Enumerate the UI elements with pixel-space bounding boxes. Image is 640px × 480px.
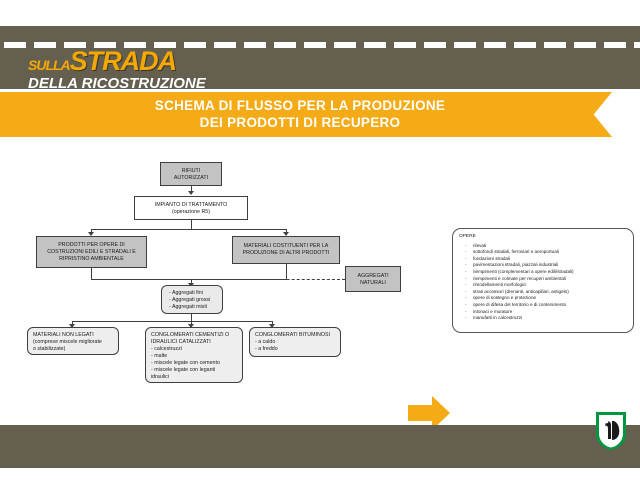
node-conglomerati-bituminosi: CONGLOMERATI BITUMINOSI - a caldo - a fr… (249, 327, 341, 357)
opere-list: rilevati sottofondi stradali, ferroviari… (459, 243, 627, 322)
opere-item: intonaci e murature (473, 309, 627, 316)
slide-title-line2: DEI PRODOTTI DI RECUPERO (0, 114, 600, 131)
opere-item: opere di difesa del territorio e di cont… (473, 302, 627, 309)
connector-materiali-down (286, 264, 287, 279)
logo-sulla: SULLA (28, 57, 70, 73)
non-legati-line1: (comprese miscele migliorate (33, 339, 113, 346)
node-aggregati-naturali: AGGREGATI NATURALI (345, 266, 401, 292)
node-conglomerati-cementizi: CONGLOMERATI CEMENTIZI O IDRAULICI CATAL… (145, 327, 243, 383)
node-rifiuti-line2: AUTORIZZATI (165, 175, 217, 182)
node-materiali-costituenti: MATERIALI COSTITUENTI PER LA PRODUZIONE … (232, 236, 340, 264)
node-prodotti-line2: COSTRUZIONI EDILI E STRADALI E (41, 249, 142, 256)
connector-dashed-naturali (191, 279, 345, 280)
connector-prodotti-down (91, 268, 92, 279)
slide-title-line1: SCHEMA DI FLUSSO PER LA PRODUZIONE (0, 97, 600, 114)
node-prodotti-line3: RIPRISTINO AMBIENTALE (41, 256, 142, 263)
cementizi-item-2: - miscele legate con cemento (151, 360, 237, 367)
road-header-band: SULLASTRADA DELLA RICOSTRUZIONE (0, 26, 640, 89)
cementizi-item-4: idraulici (151, 374, 237, 381)
brand-logo: SULLASTRADA DELLA RICOSTRUZIONE (28, 48, 206, 91)
non-legati-title: MATERIALI NON LEGATI (33, 332, 113, 339)
opere-item: fondazioni stradali (473, 256, 627, 263)
cementizi-title-l2: IDRAULICI CATALIZZATI (151, 339, 237, 346)
node-prodotti-opere: PRODOTTI PER OPERE DI COSTRUZIONI EDILI … (36, 236, 147, 268)
node-impianto-line1: IMPIANTO DI TRATTAMENTO (139, 202, 243, 209)
bituminosi-item-0: - a caldo (255, 339, 335, 346)
shield-logo-icon (594, 410, 628, 452)
node-naturali-line1: AGGREGATI (350, 273, 396, 280)
non-legati-line2: o stabilizzate) (33, 346, 113, 353)
opere-item: manufatti in calcestruzzi (473, 315, 627, 322)
opere-item: riempimenti (complementari a opere edili… (473, 269, 627, 276)
connector-impianto-bus (91, 229, 286, 230)
opere-item: strati accessori (drenanti, anticapillar… (473, 289, 627, 296)
connector-impianto-stem (191, 220, 192, 229)
opere-item: sottofondi stradali, ferroviari e aeropo… (473, 249, 627, 256)
slide-canvas: SULLASTRADA DELLA RICOSTRUZIONE SCHEMA D… (0, 0, 640, 480)
node-prodotti-line1: PRODOTTI PER OPERE DI (41, 242, 142, 249)
aggregati-item-grossi: - Aggregati grossi (169, 297, 215, 304)
bituminosi-title: CONGLOMERATI BITUMINOSI (255, 332, 335, 339)
opere-item: rilevati (473, 243, 627, 250)
aggregati-item-misti: - Aggregati misti (169, 304, 215, 311)
logo-strada: STRADA (70, 46, 177, 76)
slide-title: SCHEMA DI FLUSSO PER LA PRODUZIONE DEI P… (0, 97, 600, 131)
opere-item: rimodellamenti morfologici (473, 282, 627, 289)
opere-title: OPERE (459, 234, 627, 241)
arrowhead-impianto (188, 191, 194, 195)
node-aggregati-tipi: - Aggregati fini - Aggregati grossi - Ag… (161, 285, 223, 314)
cementizi-title-l1: CONGLOMERATI CEMENTIZI O (151, 332, 237, 339)
cementizi-item-0: - calcestruzzi (151, 346, 237, 353)
node-rifiuti-line1: RIFIUTI (165, 168, 217, 175)
node-materiali-line2: PRODUZIONE DI ALTRI PRODOTTI (237, 250, 335, 257)
opere-item: pavimentazioni stradali, piazzali indust… (473, 262, 627, 269)
logo-subtitle: DELLA RICOSTRUZIONE (28, 76, 206, 91)
cementizi-item-3: - miscele legate con leganti (151, 367, 237, 374)
node-impianto-trattamento: IMPIANTO DI TRATTAMENTO (operazione R5) (134, 196, 248, 220)
connector-aggregati-down (191, 314, 192, 321)
node-materiali-non-legati: MATERIALI NON LEGATI (comprese miscele m… (27, 327, 119, 355)
node-impianto-line2: (operazione R5) (139, 209, 243, 216)
cementizi-item-1: - malte (151, 353, 237, 360)
bituminosi-item-1: - a freddo (255, 346, 335, 353)
opere-item: opere di sostegno e protezione (473, 295, 627, 302)
opere-item: riempimenti e colmate per recuperi ambie… (473, 276, 627, 283)
connector-bottom-bus (72, 321, 272, 322)
node-materiali-line1: MATERIALI COSTITUENTI PER LA (237, 243, 335, 250)
footer-band (0, 425, 640, 468)
node-rifiuti-autorizzati: RIFIUTI AUTORIZZATI (160, 162, 222, 186)
node-naturali-line2: NATURALI (350, 280, 396, 287)
panel-opere: OPERE rilevati sottofondi stradali, ferr… (452, 228, 634, 333)
aggregati-item-fini: - Aggregati fini (169, 290, 215, 297)
